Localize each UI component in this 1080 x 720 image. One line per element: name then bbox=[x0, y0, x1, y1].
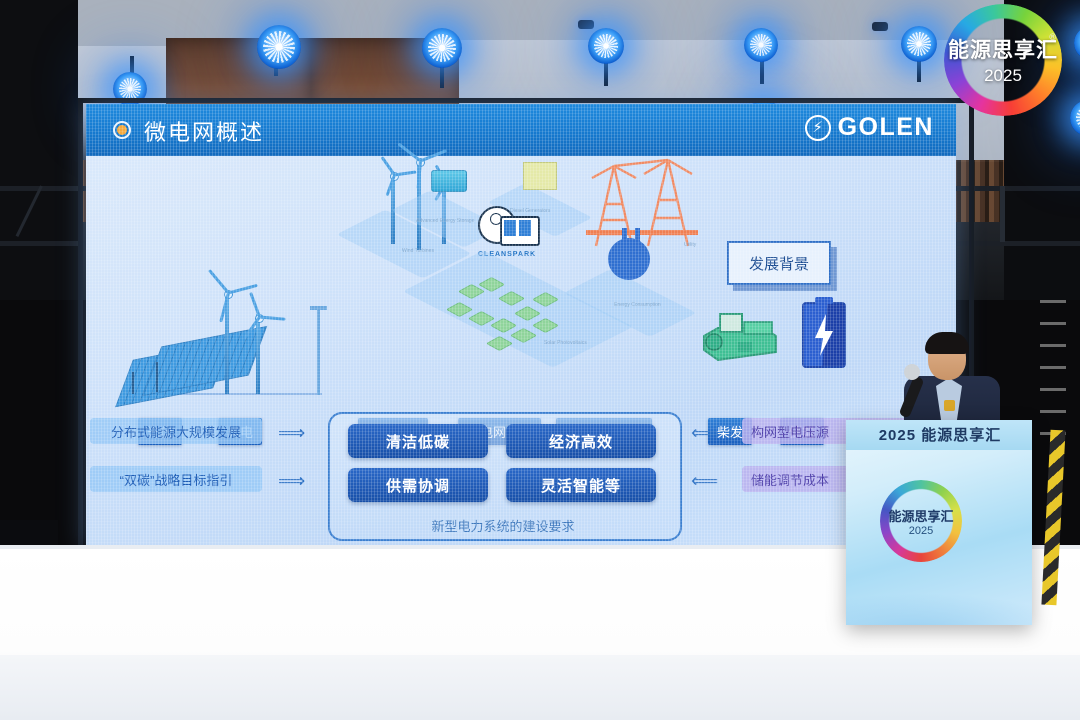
diagram-label: Solar Photovoltaics bbox=[544, 340, 587, 346]
arrow-right-icon: ⟹ bbox=[278, 424, 305, 443]
driver-left-2: “双碳”战略目标指引 bbox=[90, 466, 262, 492]
requirement-flexible-smart: 灵活智能等 bbox=[506, 468, 656, 502]
left-dark-curtain bbox=[0, 0, 78, 300]
arrow-right-icon: ⟹ bbox=[278, 472, 305, 491]
microphone-icon bbox=[904, 364, 920, 380]
podium-top-text: 2025 能源思享汇 bbox=[856, 424, 1024, 445]
diagram-label: Diesel Generators bbox=[510, 208, 550, 214]
ceiling-fixture-icon bbox=[578, 20, 594, 29]
plug-icon bbox=[635, 228, 640, 244]
utility-pole-icon bbox=[310, 306, 327, 310]
monitor-icon bbox=[519, 220, 531, 236]
requirement-economic-efficient: 经济高效 bbox=[506, 424, 656, 458]
conference-stage-photo: 微电网概述 ⚡ GOLEN bbox=[0, 0, 1080, 720]
callout-box: 发展背景 bbox=[727, 241, 831, 285]
arrow-left-icon: ⟸ bbox=[691, 424, 718, 443]
slide-header-bar: 微电网概述 ⚡ GOLEN bbox=[86, 104, 956, 156]
callout-label: 发展背景 bbox=[749, 253, 809, 274]
core-caption: 新型电力系统的建设要求 bbox=[328, 516, 678, 535]
brand-name: GOLEN bbox=[838, 113, 934, 142]
requirement-clean-lowcarbon: 清洁低碳 bbox=[348, 424, 488, 458]
registered-mark-icon: ® bbox=[1049, 32, 1056, 42]
plug-icon bbox=[622, 228, 627, 244]
podium-logo-line1: 能源思享汇 bbox=[888, 506, 953, 525]
battery-icon bbox=[802, 302, 846, 368]
driver-left-1: 分布式能源大规模发展 bbox=[90, 418, 262, 444]
stage-light-icon bbox=[422, 28, 462, 68]
stage-light-icon bbox=[901, 26, 937, 62]
brand-logo: ⚡ GOLEN bbox=[805, 113, 934, 142]
stage-front-face bbox=[0, 655, 1080, 720]
monitor-icon bbox=[504, 220, 516, 236]
diagram-label: Energy Consumption bbox=[614, 302, 661, 308]
transmission-tower-icon bbox=[576, 156, 706, 253]
ladder-rig bbox=[1040, 300, 1066, 450]
podium-event-logo: 能源思享汇 2025 bbox=[880, 480, 962, 562]
plug-icon bbox=[608, 238, 650, 280]
orange-dot-icon bbox=[113, 121, 131, 139]
requirement-supply-demand: 供需协调 bbox=[348, 468, 488, 502]
utility-pole-icon bbox=[317, 309, 320, 395]
battery-icon bbox=[431, 170, 467, 192]
event-logo-line2: 2025 bbox=[984, 66, 1022, 86]
arrow-left-icon: ⟸ bbox=[691, 472, 718, 491]
diagram-label: Utility bbox=[684, 242, 696, 248]
event-logo: 能源思享汇 2025 ® bbox=[944, 4, 1062, 116]
wind-turbine-icon bbox=[238, 314, 278, 394]
event-logo-line1: 能源思享汇 bbox=[948, 34, 1058, 64]
stage-light-icon bbox=[744, 28, 778, 62]
page-title: 微电网概述 bbox=[144, 115, 264, 147]
diesel-genset-icon bbox=[698, 306, 784, 371]
diesel-generator-icon bbox=[523, 162, 557, 190]
drivers-and-requirements: 分布式能源大规模发展 “双碳”战略目标指引 ⟹ ⟹ 清洁低碳 经济高效 供需协调… bbox=[86, 404, 956, 549]
stage-light-icon bbox=[257, 25, 301, 69]
diagram-label: Advanced Energy Storage bbox=[416, 218, 474, 224]
lightning-circle-icon: ⚡ bbox=[805, 115, 831, 141]
podium-logo-line2: 2025 bbox=[909, 525, 933, 537]
ceiling-fixture-icon bbox=[872, 22, 888, 31]
stage-light-icon bbox=[588, 28, 624, 64]
diagram-label: Wind Turbines bbox=[402, 248, 434, 254]
led-presentation-screen: 微电网概述 ⚡ GOLEN bbox=[86, 104, 956, 549]
